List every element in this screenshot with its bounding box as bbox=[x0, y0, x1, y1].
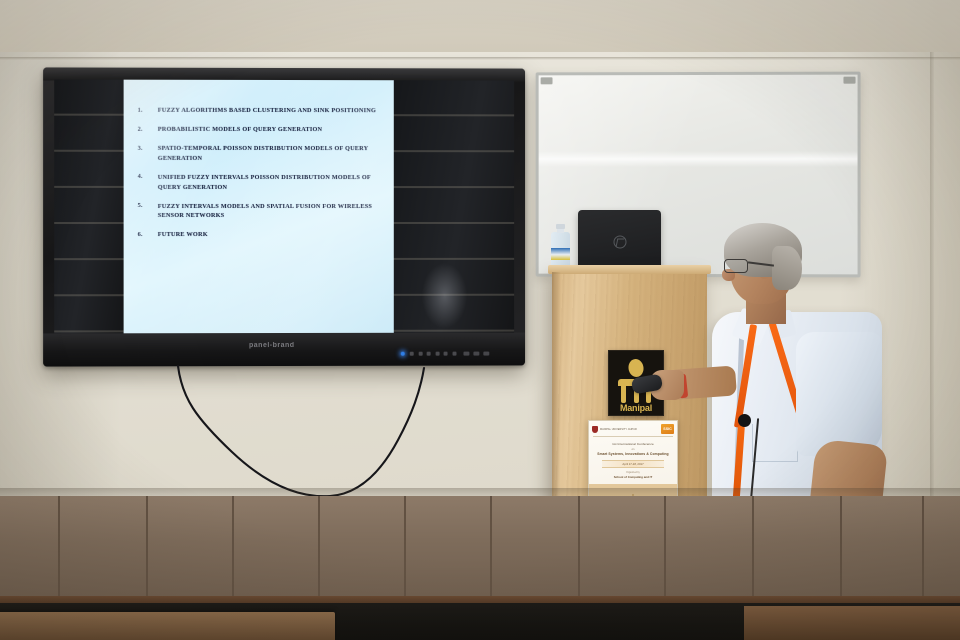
university-crest-icon bbox=[592, 426, 598, 433]
slide-list-item: 5. FUZZY INTERVALS MODELS AND SPATIAL FU… bbox=[138, 202, 384, 221]
slide-item-number: 4. bbox=[138, 173, 158, 192]
letterbox-right bbox=[394, 80, 514, 333]
slide-item-text: UNIFIED FUZZY INTERVALS POISSON DISTRIBU… bbox=[158, 173, 384, 192]
letterbox-left bbox=[54, 79, 123, 333]
slide-list-item: 2. PROBABILISTIC MODELS OF QUERY GENERAT… bbox=[138, 125, 384, 135]
poster-header: MANIPAL UNIVERSITY JAIPUR SSIC bbox=[589, 421, 677, 435]
slide-item-text: SPATIO-TEMPORAL POISSON DISTRIBUTION MOD… bbox=[158, 144, 384, 163]
display-input-buttons[interactable] bbox=[463, 352, 489, 356]
glasses-icon bbox=[724, 259, 772, 274]
poster-organizer: School of Computing and IT bbox=[589, 475, 677, 479]
poster-title: 1st International Conference bbox=[589, 442, 677, 446]
lecture-room-scene: 1. FUZZY ALGORITHMS BASED CLUSTERING AND… bbox=[0, 0, 960, 640]
slide-list-item: 4. UNIFIED FUZZY INTERVALS POISSON DISTR… bbox=[138, 173, 384, 192]
poster-divider bbox=[593, 436, 673, 437]
poster-university-name: MANIPAL UNIVERSITY JAIPUR bbox=[600, 428, 637, 431]
slide-item-number: 3. bbox=[138, 144, 158, 163]
slide-agenda-list: 1. FUZZY ALGORITHMS BASED CLUSTERING AND… bbox=[138, 106, 384, 240]
whiteboard-bracket bbox=[843, 77, 855, 84]
shirt-pocket bbox=[752, 424, 798, 462]
poster-university-block: MANIPAL UNIVERSITY JAIPUR bbox=[592, 426, 637, 433]
wall-display[interactable]: 1. FUZZY ALGORITHMS BASED CLUSTERING AND… bbox=[43, 67, 525, 366]
power-led-icon bbox=[401, 352, 405, 356]
bottle-cap bbox=[556, 224, 565, 229]
stage-platform bbox=[0, 496, 960, 606]
presenter-hair-back bbox=[772, 246, 802, 290]
presentation-slide: 1. FUZZY ALGORITHMS BASED CLUSTERING AND… bbox=[124, 80, 394, 334]
laptop[interactable] bbox=[578, 210, 661, 272]
slide-item-number: 5. bbox=[138, 202, 158, 221]
wall-corner bbox=[930, 52, 934, 502]
display-control-buttons[interactable] bbox=[410, 352, 456, 356]
manipal-wordmark: Manipal bbox=[620, 403, 652, 413]
presenter-sleeve bbox=[796, 332, 882, 456]
slide-list-item: 1. FUZZY ALGORITHMS BASED CLUSTERING AND… bbox=[138, 106, 384, 116]
slide-list-item: 3. SPATIO-TEMPORAL POISSON DISTRIBUTION … bbox=[138, 144, 384, 163]
slide-item-text: FUZZY INTERVALS MODELS AND SPATIAL FUSIO… bbox=[158, 202, 384, 221]
poster-on-label: on bbox=[589, 448, 677, 451]
poster-conference-badge: SSIC bbox=[661, 424, 674, 434]
whiteboard-bracket bbox=[541, 77, 553, 84]
wall-upper bbox=[0, 0, 960, 60]
poster-organizer-label: Organized by bbox=[589, 472, 677, 474]
clip-microphone-icon bbox=[738, 414, 751, 427]
manipal-mark-head bbox=[627, 358, 644, 378]
slide-item-text: FUZZY ALGORITHMS BASED CLUSTERING AND SI… bbox=[158, 106, 376, 116]
display-screen: 1. FUZZY ALGORITHMS BASED CLUSTERING AND… bbox=[54, 79, 514, 333]
display-bezel-bottom: panel-brand bbox=[43, 333, 525, 367]
slide-item-number: 6. bbox=[138, 230, 158, 240]
slide-item-text: PROBABILISTIC MODELS OF QUERY GENERATION bbox=[158, 125, 322, 135]
foreground-table-right bbox=[744, 606, 960, 640]
slide-list-item: 6. FUTURE WORK bbox=[138, 230, 384, 240]
slide-item-text: FUTURE WORK bbox=[158, 230, 208, 240]
slide-item-number: 1. bbox=[138, 106, 158, 116]
wall-seam bbox=[0, 57, 960, 60]
stage-plank-lines bbox=[0, 496, 960, 606]
poster-conference-name: Smart Systems, Innovations & Computing bbox=[589, 452, 677, 456]
poster-dates: April 17-18, 2017 bbox=[602, 460, 664, 468]
hp-logo-icon bbox=[613, 236, 626, 249]
slide-item-number: 2. bbox=[138, 125, 158, 135]
foreground-table-left bbox=[0, 612, 335, 640]
display-brand-logo: panel-brand bbox=[249, 342, 295, 349]
bottle-label bbox=[551, 248, 570, 260]
